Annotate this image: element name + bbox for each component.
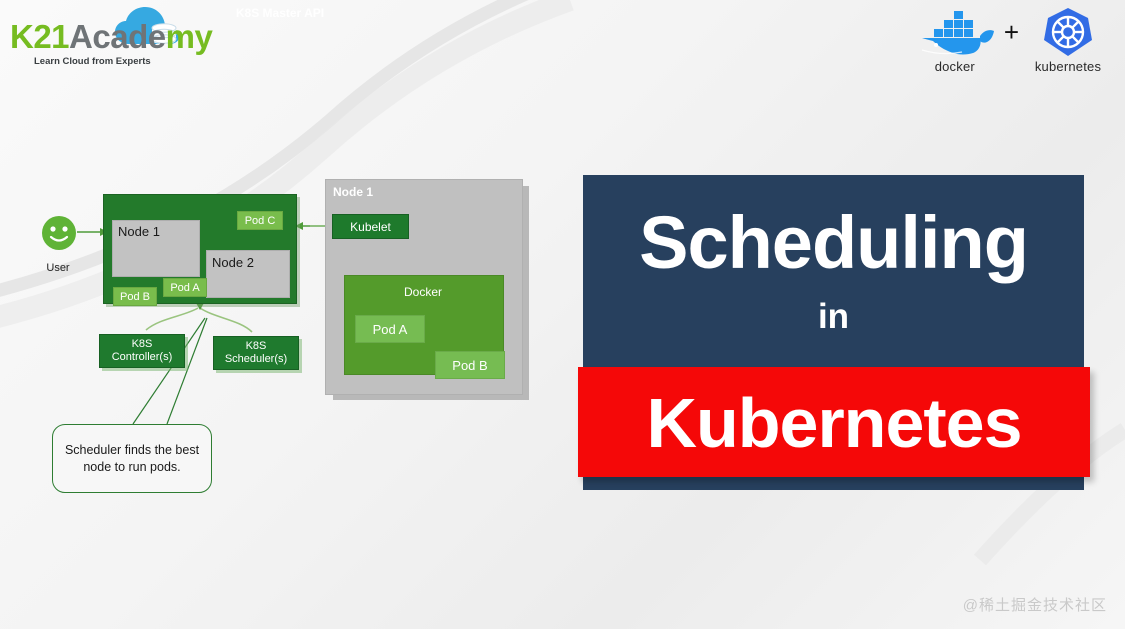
kubernetes-scheduling-diagram: User K8S Master API Node 1 Node 2 Pod C … bbox=[0, 0, 560, 520]
plus-separator: + bbox=[1004, 17, 1019, 48]
watermark: @稀土掘金技术社区 bbox=[963, 594, 1107, 615]
user-label: User bbox=[40, 262, 76, 274]
scheduler-callout: Scheduler finds the best node to run pod… bbox=[52, 424, 212, 493]
master-node2-box bbox=[206, 250, 290, 298]
pod-c-chip: Pod C bbox=[237, 211, 283, 230]
k8s-schedulers-line2: Scheduler(s) bbox=[225, 353, 287, 366]
k8s-controllers-line2: Controller(s) bbox=[112, 351, 173, 364]
docker-whale-icon bbox=[914, 6, 996, 58]
k8s-controllers-box: K8S Controller(s) bbox=[99, 334, 185, 368]
kubernetes-brand: kubernetes bbox=[1025, 6, 1111, 74]
title-line-scheduling: Scheduling bbox=[583, 202, 1084, 284]
pod-b-chip: Pod B bbox=[113, 287, 157, 306]
title-line-in: in bbox=[583, 297, 1084, 337]
title-line-kubernetes: Kubernetes bbox=[578, 378, 1090, 468]
kubelet-box: Kubelet bbox=[332, 214, 409, 239]
docker-pod-b: Pod B bbox=[435, 351, 505, 379]
k8s-controllers-line1: K8S bbox=[132, 338, 153, 351]
master-node1-box bbox=[112, 220, 200, 277]
docker-brand: docker bbox=[912, 6, 998, 74]
k8s-schedulers-box: K8S Scheduler(s) bbox=[213, 336, 299, 370]
brand-icons-bar: docker + kubernetes bbox=[912, 6, 1111, 74]
smiley-face-icon bbox=[40, 214, 78, 252]
kubernetes-label: kubernetes bbox=[1035, 59, 1101, 74]
kubernetes-helm-icon bbox=[1042, 6, 1094, 58]
k8s-schedulers-line1: K8S bbox=[246, 340, 267, 353]
pod-a-chip: Pod A bbox=[163, 278, 207, 297]
docker-label: docker bbox=[935, 59, 975, 74]
docker-pod-a: Pod A bbox=[355, 315, 425, 343]
